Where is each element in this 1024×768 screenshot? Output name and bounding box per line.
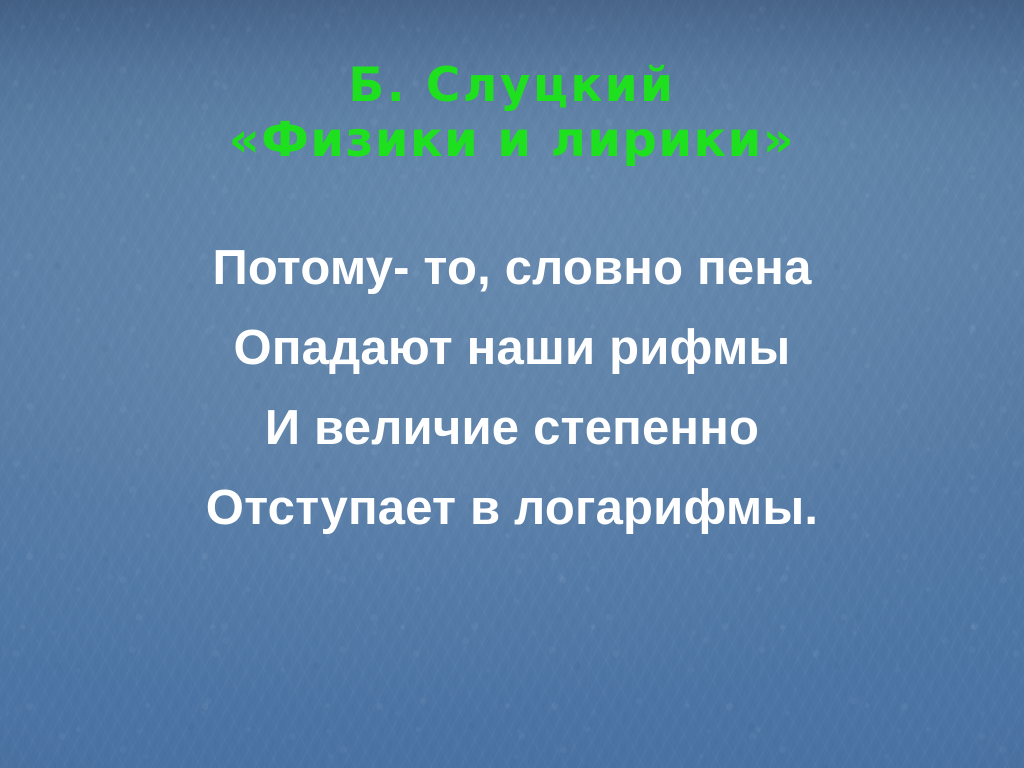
verse-line-3: И величие степенно — [0, 388, 1024, 468]
title-line-poem-name: «Физики и лирики» — [0, 113, 1024, 168]
slide-content: Б. Слуцкий «Физики и лирики» Потому- то,… — [0, 0, 1024, 768]
poem-verse: Потому- то, словно пена Опадают наши риф… — [0, 228, 1024, 548]
title-line-author: Б. Слуцкий — [0, 58, 1024, 113]
verse-line-1: Потому- то, словно пена — [0, 228, 1024, 308]
verse-line-4: Отступает в логарифмы. — [0, 468, 1024, 548]
presentation-slide: Б. Слуцкий «Физики и лирики» Потому- то,… — [0, 0, 1024, 768]
slide-title: Б. Слуцкий «Физики и лирики» — [0, 58, 1024, 168]
verse-line-2: Опадают наши рифмы — [0, 308, 1024, 388]
